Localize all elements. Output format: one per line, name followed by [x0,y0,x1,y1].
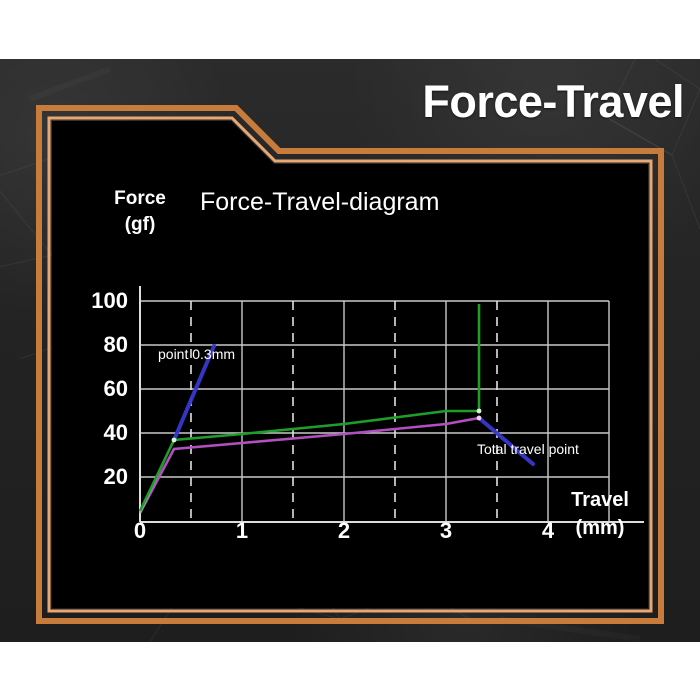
annotation-point: point 0.3mm [158,346,235,362]
x-tick-2: 2 [338,518,350,544]
annotation-total-travel: Total travel point [477,441,579,457]
x-tick-3: 3 [440,518,452,544]
x-axis-ticklabels: 0 1 2 3 4 [52,146,652,612]
x-tick-0: 0 [134,518,146,544]
x-axis-title: Travel (mm) [552,486,648,542]
x-axis-unit-text: (mm) [552,514,648,542]
x-tick-1: 1 [236,518,248,544]
x-axis-title-text: Travel [571,489,629,511]
chart-panel: Force (gf) Force-Travel-diagram [52,146,652,612]
screenshot-stage: Force-Travel Force (gf) Force-Travel-dia… [0,0,700,700]
